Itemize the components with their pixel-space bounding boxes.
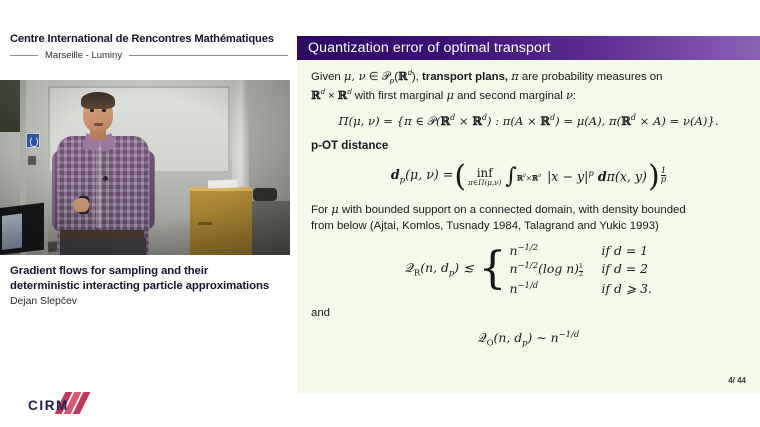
qr-left-hand-side: 𝒬R(n, dp) ≲: [405, 260, 473, 277]
left-info-panel: Centre International de Rencontres Mathé…: [0, 0, 296, 427]
cirm-logo: CIRM: [28, 392, 108, 418]
case-value: n−1/2: [509, 242, 601, 258]
case-row: n−1/2(log n)12 if d = 2: [509, 260, 652, 277]
cases-list: n−1/2 if d = 1 n−1/2(log n)12 if d = 2 n…: [509, 242, 652, 296]
institution-name: Centre International de Rencontres Mathé…: [0, 33, 296, 45]
cirm-logo-text: CIRM: [28, 398, 69, 413]
case-condition: if d = 2: [601, 261, 648, 276]
for-mu-paragraph: For μ with bounded support on a connecte…: [297, 201, 760, 234]
case-condition: if d = 1: [601, 243, 648, 258]
talk-title-line-2: deterministic interacting particle appro…: [10, 280, 269, 292]
case-row: n−1/2 if d = 1: [509, 242, 652, 258]
page-number: 4/ 44: [728, 376, 746, 385]
integral-operator: ∫ ℝd×ℝd: [505, 169, 541, 185]
case-value: n−1/d: [509, 280, 601, 296]
heading-p-ot-distance: p-OT distance: [297, 138, 760, 154]
divider-right: [129, 55, 288, 56]
lecture-video[interactable]: [0, 80, 290, 255]
case-condition: if d ⩾ 3.: [601, 281, 652, 296]
talk-title-line-1: Gradient flows for sampling and their: [10, 265, 208, 277]
slide-title: Quantization error of optimal transport: [297, 40, 551, 56]
institution-header: Centre International de Rencontres Mathé…: [0, 33, 296, 61]
divider-left: [10, 55, 38, 56]
and-connector: and: [297, 307, 760, 319]
institution-subtitle-row: Marseille - Luminy: [0, 50, 296, 61]
slide-body: Given μ, ν ∈ 𝒫p(ℝd), transport plans, π …: [297, 60, 760, 393]
for-mu-line-2: from below (Ajtai, Komlos, Tusnady 1984,…: [311, 220, 659, 232]
talk-info: Gradient flows for sampling and their de…: [10, 264, 288, 307]
institution-city: Marseille - Luminy: [45, 50, 122, 61]
talk-title: Gradient flows for sampling and their de…: [10, 264, 288, 293]
intro-paragraph: Given μ, ν ∈ 𝒫p(ℝd), transport plans, π …: [297, 67, 760, 104]
paren-open: (: [454, 165, 466, 189]
infimum-operator: inf π∈Π(μ,ν): [468, 167, 501, 186]
presentation-slide: Quantization error of optimal transport …: [297, 0, 760, 393]
equation-quantization-error-random: 𝒬R(n, dp) ≲ { n−1/2 if d = 1 n−1/2(log n…: [297, 242, 760, 296]
equation-quantization-error-optimal: 𝒬O(n, dp) ∼ n−1/d: [297, 329, 760, 350]
video-vignette: [0, 80, 290, 255]
intro-text-part1: Given: [311, 71, 344, 83]
intro-bold-phrase: transport plans,: [422, 71, 508, 83]
case-row: n−1/d if d ⩾ 3.: [509, 280, 652, 296]
slide-top-margin: [297, 0, 760, 36]
cases-brace: {: [478, 253, 506, 285]
slide-title-bar: Quantization error of optimal transport: [297, 36, 760, 60]
for-mu-line-1: For μ with bounded support on a connecte…: [311, 204, 686, 216]
exponent-one-over-p: 1p: [661, 165, 666, 185]
equation-transport-plan-set: Π(μ, ν) = {π ∈ 𝒫(ℝd × ℝd) : π(A × ℝd) = …: [297, 112, 760, 129]
equation-p-ot-distance: dp(μ, ν) = ( inf π∈Π(μ,ν) ∫ ℝd×ℝd |x − y…: [297, 165, 760, 189]
paren-close: ): [648, 165, 660, 189]
talk-speaker: Dejan Slepčev: [10, 296, 288, 307]
case-value: n−1/2(log n)12: [509, 260, 601, 277]
